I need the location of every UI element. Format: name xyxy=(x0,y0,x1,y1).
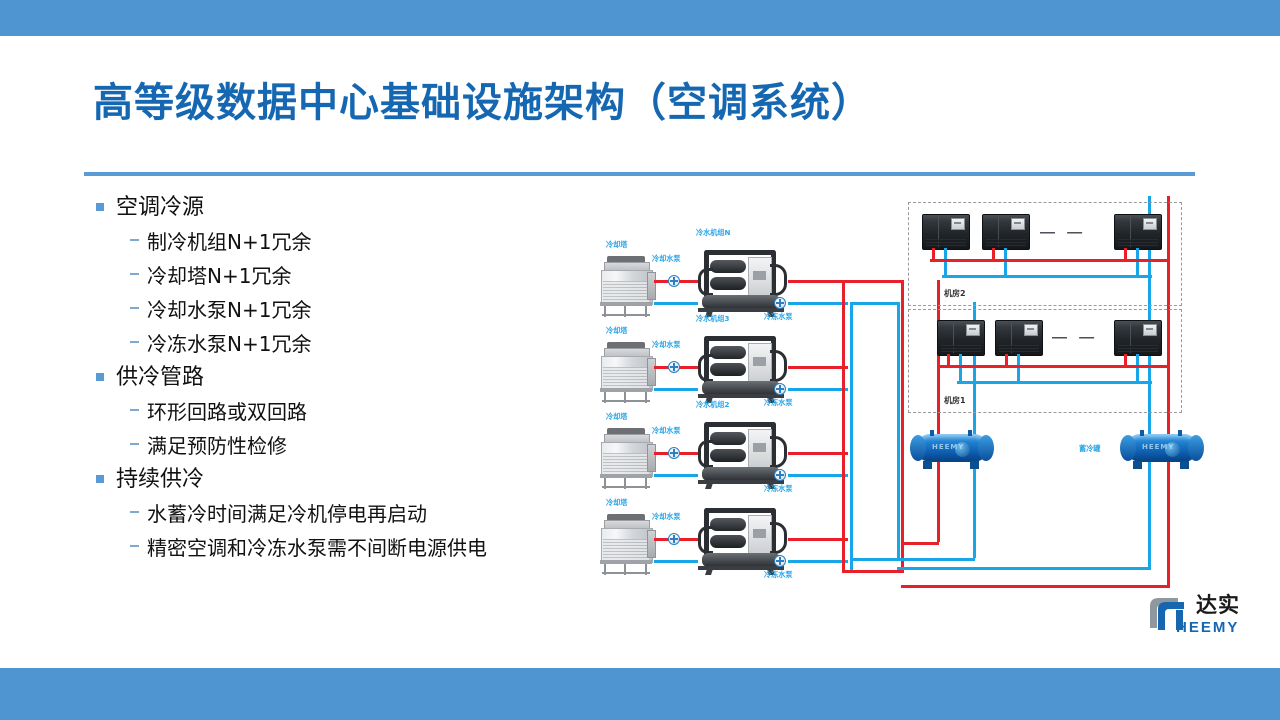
thermal-storage-tank: HEEMY xyxy=(910,428,994,470)
chilled-water-pump-label: 冷冻水泵 xyxy=(764,312,793,322)
chilled-supply-pipe xyxy=(788,302,848,305)
chilled-return-pipe xyxy=(788,538,848,541)
server-room-2-label: 机房2 xyxy=(944,288,966,299)
room1-return-header xyxy=(939,365,1170,368)
chilled-water-pump-icon xyxy=(774,297,786,309)
chiller-icon xyxy=(696,250,788,318)
crac-unit xyxy=(937,320,985,356)
cooling-water-pump-icon xyxy=(668,447,680,459)
rack-supply-drop xyxy=(1136,354,1139,382)
bullet-level2: 环形回路或双回路 xyxy=(96,396,616,429)
loop-return-top xyxy=(842,280,904,283)
outer-ring-return-bottom xyxy=(901,585,1170,588)
cooling-tower-icon xyxy=(600,342,652,404)
rack-supply-drop xyxy=(1136,248,1139,276)
bullet-level2: 满足预防性检修 xyxy=(96,430,616,463)
outer-ring-supply-bottom xyxy=(897,567,1151,570)
dash-bullet-icon xyxy=(130,328,147,343)
dash-bullet-icon xyxy=(130,498,147,513)
server-room-1-label: 机房1 xyxy=(944,395,966,406)
dash-bullet-icon xyxy=(130,532,147,547)
bottom-accent-bar xyxy=(0,668,1280,720)
bullet-level2-label: 水蓄冷时间满足冷机停电再启动 xyxy=(147,498,427,531)
cooling-water-pump-icon xyxy=(668,533,680,545)
square-bullet-icon xyxy=(96,192,116,211)
chiller-label: 冷水机组N xyxy=(696,228,731,238)
chiller-plant-row: 冷却塔 冷却水泵 冷水机组2 冷冻水 xyxy=(592,412,852,500)
rack-ellipsis: — — xyxy=(1040,224,1086,241)
plant-supply-header xyxy=(850,302,853,570)
bullet-level2-label: 冷冻水泵N+1冗余 xyxy=(147,328,311,361)
chilled-return-pipe xyxy=(788,280,848,283)
chiller-icon xyxy=(696,422,788,490)
bullet-level2-label: 环形回路或双回路 xyxy=(147,396,307,429)
room1-supply-header xyxy=(957,381,1152,384)
bullet-level2: 冷却水泵N+1冗余 xyxy=(96,294,616,327)
bullet-level2: 精密空调和冷冻水泵需不间断电源供电 xyxy=(96,532,616,565)
bullet-level1: 供冷管路 xyxy=(96,362,616,394)
chilled-return-pipe xyxy=(788,452,848,455)
cooling-tower-label: 冷却塔 xyxy=(606,412,627,422)
hvac-system-diagram: 冷却塔 冷却水泵 冷水机组N 冷冻水 xyxy=(592,196,1192,596)
cooling-tower-label: 冷却塔 xyxy=(606,240,627,250)
logo-chinese-text: 达实 xyxy=(1196,594,1240,616)
cooling-water-pump-icon xyxy=(668,275,680,287)
bullet-level1-label: 空调冷源 xyxy=(116,192,204,224)
bullet-level1-label: 持续供冷 xyxy=(116,464,204,496)
loop-supply-top xyxy=(850,302,900,305)
company-logo: 达实 HEEMY xyxy=(1146,592,1258,644)
square-bullet-icon xyxy=(96,464,116,483)
crac-unit xyxy=(982,214,1030,250)
chiller-icon xyxy=(696,508,788,576)
loop-return-left-lower xyxy=(901,542,904,570)
loop-supply-left-riser xyxy=(897,302,900,560)
dash-bullet-icon xyxy=(130,294,147,309)
bullet-level1-label: 供冷管路 xyxy=(116,362,204,394)
bullet-level1: 持续供冷 xyxy=(96,464,616,496)
cooling-tower-icon xyxy=(600,514,652,576)
cooling-tower-icon xyxy=(600,256,652,318)
chilled-water-pump-icon xyxy=(774,469,786,481)
page-title: 高等级数据中心基础设施架构（空调系统） xyxy=(93,68,1093,138)
condenser-supply-pipe xyxy=(654,302,698,305)
slide-canvas: 高等级数据中心基础设施架构（空调系统） 空调冷源 制冷机组N+1冗余 冷却塔N+… xyxy=(0,0,1280,720)
bullet-level2-label: 精密空调和冷冻水泵需不间断电源供电 xyxy=(147,532,487,565)
condenser-supply-pipe xyxy=(654,388,698,391)
bullet-level2-label: 满足预防性检修 xyxy=(147,430,287,463)
chilled-supply-pipe xyxy=(788,474,848,477)
chilled-water-pump-label: 冷冻水泵 xyxy=(764,484,793,494)
storage-tank-label: 蓄冷罐 xyxy=(1079,444,1100,454)
cooling-water-pump-label: 冷却水泵 xyxy=(652,254,681,264)
bullet-level2: 冷冻水泵N+1冗余 xyxy=(96,328,616,361)
dash-bullet-icon xyxy=(130,226,147,241)
bullet-level2: 水蓄冷时间满足冷机停电再启动 xyxy=(96,498,616,531)
crac-unit xyxy=(995,320,1043,356)
cooling-tower-icon xyxy=(600,428,652,490)
bullet-level2-label: 冷却塔N+1冗余 xyxy=(147,260,291,293)
square-bullet-icon xyxy=(96,362,116,381)
cooling-tower-label: 冷却塔 xyxy=(606,498,627,508)
chilled-water-pump-icon xyxy=(774,555,786,567)
loop-return-left-riser xyxy=(901,280,904,542)
condenser-supply-pipe xyxy=(654,560,698,563)
thermal-storage-tank: HEEMY xyxy=(1120,428,1204,470)
chilled-supply-pipe xyxy=(788,388,848,391)
loop-supply-bottom xyxy=(850,558,900,561)
bullet-level2-label: 冷却水泵N+1冗余 xyxy=(147,294,311,327)
crac-unit xyxy=(922,214,970,250)
cooling-water-pump-label: 冷却水泵 xyxy=(652,426,681,436)
chilled-water-pump-icon xyxy=(774,383,786,395)
crac-unit xyxy=(1114,214,1162,250)
condenser-supply-pipe xyxy=(654,474,698,477)
dash-bullet-icon xyxy=(130,260,147,275)
chilled-return-pipe xyxy=(788,366,848,369)
branch-supply-to-tank xyxy=(897,558,975,561)
loop-return-bottom xyxy=(842,570,904,573)
bullet-level2: 冷却塔N+1冗余 xyxy=(96,260,616,293)
rack-supply-drop xyxy=(1004,248,1007,276)
cooling-water-pump-icon xyxy=(668,361,680,373)
dash-bullet-icon xyxy=(130,430,147,445)
rack-supply-drop xyxy=(1017,354,1020,382)
chilled-supply-pipe xyxy=(788,560,848,563)
title-divider xyxy=(84,172,1195,176)
rack-supply-drop xyxy=(959,354,962,382)
chiller-label: 冷水机组3 xyxy=(696,314,730,324)
logo-english-text: HEEMY xyxy=(1176,619,1239,636)
bullet-level1: 空调冷源 xyxy=(96,192,616,224)
chilled-water-pump-label: 冷冻水泵 xyxy=(764,570,793,580)
bullet-list: 空调冷源 制冷机组N+1冗余 冷却塔N+1冗余 冷却水泵N+1冗余 冷冻水泵N+… xyxy=(96,192,616,566)
plant-return-header xyxy=(842,280,845,570)
room2-supply-header xyxy=(942,275,1152,278)
chilled-water-pump-label: 冷冻水泵 xyxy=(764,398,793,408)
rack-supply-drop xyxy=(944,248,947,276)
crac-unit xyxy=(1114,320,1162,356)
branch-return-to-tank xyxy=(901,542,939,545)
bullet-level2: 制冷机组N+1冗余 xyxy=(96,226,616,259)
cooling-water-pump-label: 冷却水泵 xyxy=(652,512,681,522)
dash-bullet-icon xyxy=(130,396,147,411)
top-accent-bar xyxy=(0,0,1280,36)
chiller-label: 冷水机组2 xyxy=(696,400,730,410)
rack-ellipsis: — — xyxy=(1052,329,1098,346)
room2-return-header xyxy=(930,259,1170,262)
chiller-icon xyxy=(696,336,788,404)
cooling-tower-label: 冷却塔 xyxy=(606,326,627,336)
chiller-plant-row: 冷却塔 冷却水泵 冷冻水泵 xyxy=(592,498,852,586)
bullet-level2-label: 制冷机组N+1冗余 xyxy=(147,226,311,259)
cooling-water-pump-label: 冷却水泵 xyxy=(652,340,681,350)
